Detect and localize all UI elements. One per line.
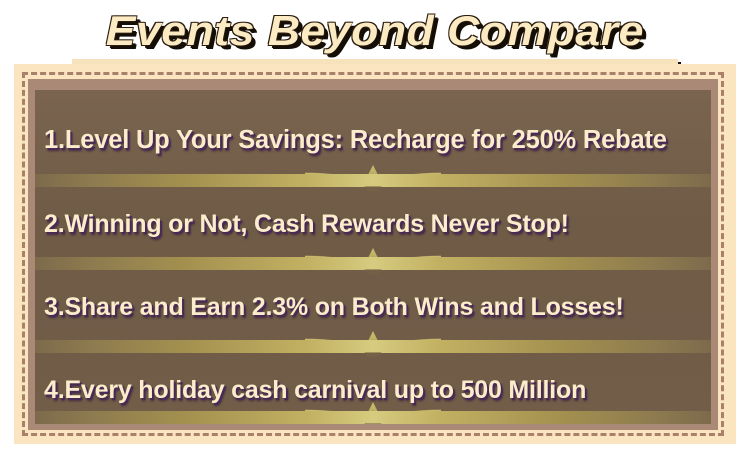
page-title: Events Beyond Compare: [102, 6, 649, 56]
separator-shadow: [364, 423, 382, 424]
list-separator-bottom: [35, 407, 711, 424]
list-item-label: 4.Every holiday cash carnival up to 500 …: [44, 378, 586, 403]
list-item[interactable]: 2.Winning or Not, Cash Rewards Never Sto…: [35, 195, 711, 253]
separator-shadow: [364, 186, 382, 192]
list-item[interactable]: 3.Share and Earn 2.3% on Both Wins and L…: [35, 278, 711, 336]
list-separator: [35, 170, 711, 187]
list-item[interactable]: 1.Level Up Your Savings: Recharge for 25…: [35, 112, 711, 170]
list-separator: [35, 336, 711, 353]
list-item-label: 2.Winning or Not, Cash Rewards Never Sto…: [44, 212, 569, 237]
headline-container: Events Beyond Compare: [0, 6, 750, 62]
list-item-label: 1.Level Up Your Savings: Recharge for 25…: [44, 128, 667, 154]
list-separator: [35, 253, 711, 270]
list-item-label: 3.Share and Earn 2.3% on Both Wins and L…: [44, 295, 624, 320]
promo-banner: Events Beyond Compare Elevate Your Exper…: [0, 0, 750, 471]
separator-shadow: [364, 352, 382, 358]
separator-shadow: [364, 269, 382, 275]
promo-list-panel: 1.Level Up Your Savings: Recharge for 25…: [35, 90, 711, 424]
